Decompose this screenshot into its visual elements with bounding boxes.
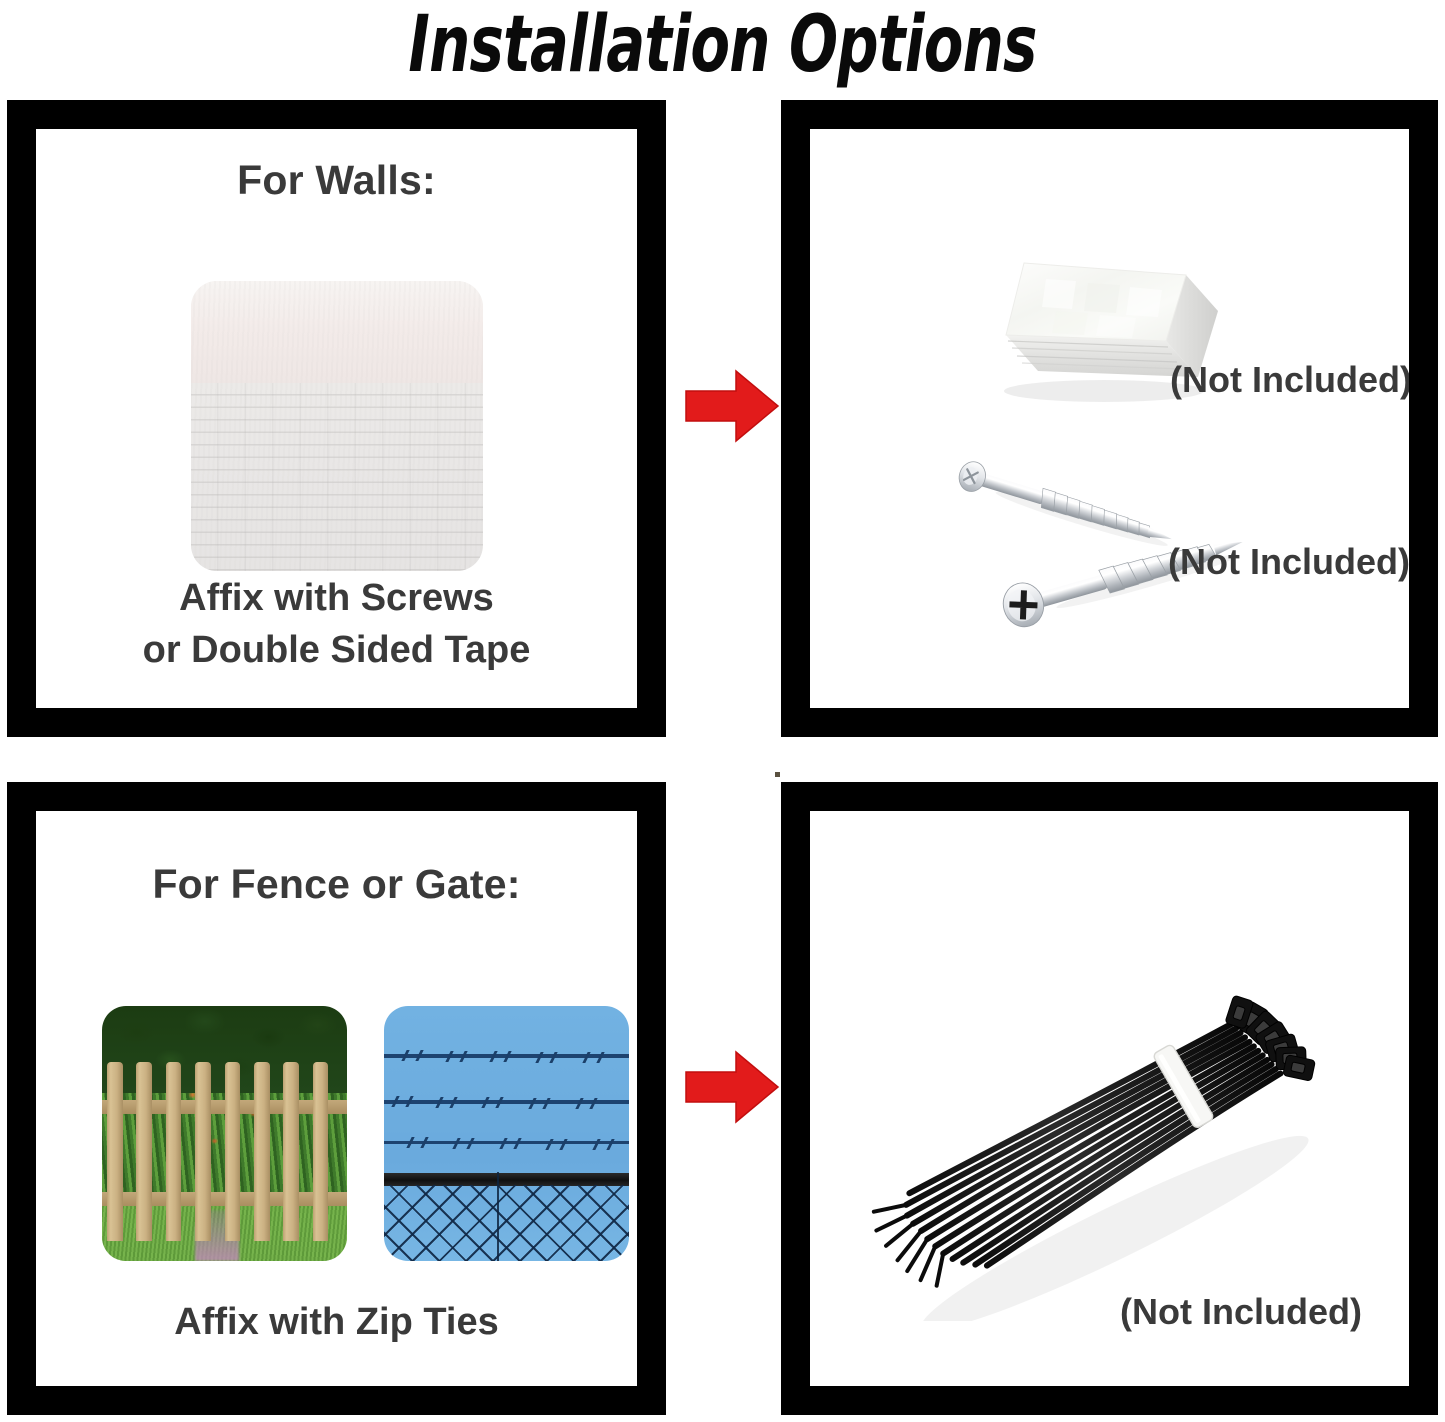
white-brick-wall-photo bbox=[191, 281, 483, 571]
tape-not-included-label: (Not Included) bbox=[1170, 359, 1409, 401]
for-walls-caption: Affix with Screws or Double Sided Tape bbox=[36, 573, 637, 676]
zip-ties-not-included-label: (Not Included) bbox=[1120, 1291, 1362, 1333]
caption-line-2: or Double Sided Tape bbox=[36, 625, 637, 676]
arrow-right-icon-top bbox=[684, 367, 780, 445]
panel-wall-hardware: (Not Included) bbox=[781, 100, 1438, 737]
fence-picket bbox=[254, 1062, 270, 1241]
fence-picket bbox=[107, 1062, 123, 1241]
chain-link-barbed-wire-photo bbox=[384, 1006, 629, 1261]
fence-picket bbox=[166, 1062, 182, 1241]
wall-texture-grain bbox=[191, 281, 483, 571]
panel-for-walls-content: For Walls: Affix with Screws or Double S… bbox=[36, 129, 637, 708]
panel-for-fence-or-gate: For Fence or Gate: bbox=[7, 782, 666, 1415]
page-title: Installation Options bbox=[408, 6, 1036, 90]
for-walls-heading: For Walls: bbox=[36, 157, 637, 204]
installation-options-infographic: Installation Options For Walls: Affix wi… bbox=[0, 0, 1445, 1422]
fence-picket bbox=[313, 1062, 329, 1241]
arrow-right-icon-bottom bbox=[684, 1048, 780, 1126]
panel-for-fence-content: For Fence or Gate: bbox=[36, 811, 637, 1386]
wooden-picket-fence-photo bbox=[102, 1006, 347, 1261]
arrow-right-icon-top-svg bbox=[684, 367, 780, 445]
mesh-post bbox=[497, 1172, 499, 1261]
panel-wall-hardware-content: (Not Included) bbox=[810, 129, 1409, 708]
caption-line-1: Affix with Zip Ties bbox=[36, 1297, 637, 1348]
image-artifact-speck bbox=[775, 772, 780, 777]
zip-ties-svg bbox=[840, 921, 1380, 1321]
fence-picket bbox=[225, 1062, 241, 1241]
caption-line-1: Affix with Screws bbox=[36, 573, 637, 624]
for-fence-heading: For Fence or Gate: bbox=[36, 861, 637, 908]
arrow-right-icon-bottom-svg bbox=[684, 1048, 780, 1126]
fence-picket bbox=[136, 1062, 152, 1241]
panel-fence-hardware-content: (Not Included) bbox=[810, 811, 1409, 1386]
fence-picket bbox=[283, 1062, 299, 1241]
screws-not-included-label: (Not Included) bbox=[1168, 541, 1409, 583]
zip-ties-bundle-image bbox=[840, 921, 1380, 1321]
panel-fence-hardware: (Not Included) bbox=[781, 782, 1438, 1415]
panel-for-walls: For Walls: Affix with Screws or Double S… bbox=[7, 100, 666, 737]
for-fence-caption: Affix with Zip Ties bbox=[36, 1297, 637, 1348]
chain-link-mesh bbox=[384, 1185, 629, 1262]
title-bar: Installation Options bbox=[0, 0, 1445, 96]
fence-picket bbox=[195, 1062, 211, 1241]
